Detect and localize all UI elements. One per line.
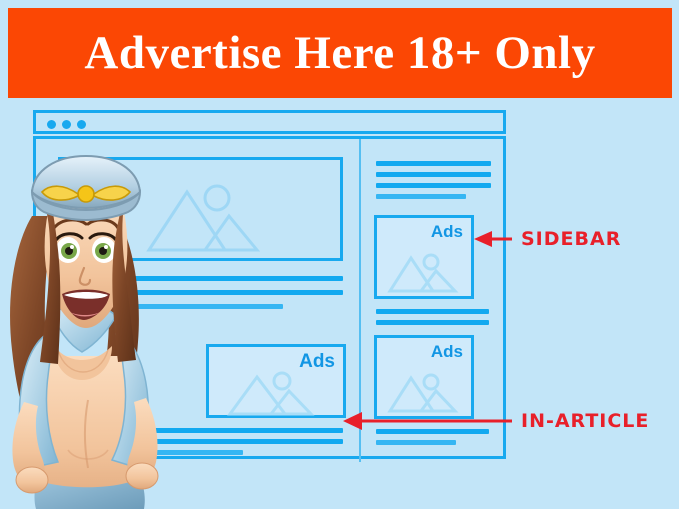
image-placeholder-icon	[227, 369, 327, 417]
window-dot-icon	[47, 120, 56, 129]
stewardess-hat	[32, 156, 140, 220]
window-dot-icon	[77, 120, 86, 129]
column-divider	[359, 139, 361, 462]
sidebar-text-line	[376, 429, 489, 434]
in-article-ad-box[interactable]: Ads	[206, 344, 346, 418]
sidebar-text-line	[376, 183, 491, 188]
sidebar-text-line	[376, 172, 491, 177]
window-controls	[47, 120, 86, 129]
annotation-label-in-article: IN-ARTICLE	[521, 410, 649, 432]
window-dot-icon	[62, 120, 71, 129]
sidebar-text-line	[376, 440, 456, 445]
sidebar-text-line	[376, 309, 489, 314]
annotation-label-sidebar: SIDEBAR	[521, 228, 621, 250]
hat-emblem-icon	[42, 186, 130, 202]
ads-label: Ads	[431, 222, 463, 242]
image-placeholder-icon	[387, 250, 465, 294]
image-placeholder-icon	[387, 370, 465, 414]
screenshot-root: Advertise Here 18+ Only	[0, 0, 679, 509]
banner-title: Advertise Here 18+ Only	[84, 30, 595, 77]
sidebar-ad-box[interactable]: Ads	[374, 215, 474, 299]
sidebar-text-line	[376, 194, 466, 199]
sidebar-text-line	[376, 320, 489, 325]
sidebar-ad-box[interactable]: Ads	[374, 335, 474, 419]
browser-titlebar	[33, 110, 506, 134]
ads-label: Ads	[431, 342, 463, 362]
advertise-banner[interactable]: Advertise Here 18+ Only	[8, 8, 672, 98]
cartoon-character-illustration	[0, 150, 196, 509]
sidebar-text-line	[376, 161, 491, 166]
